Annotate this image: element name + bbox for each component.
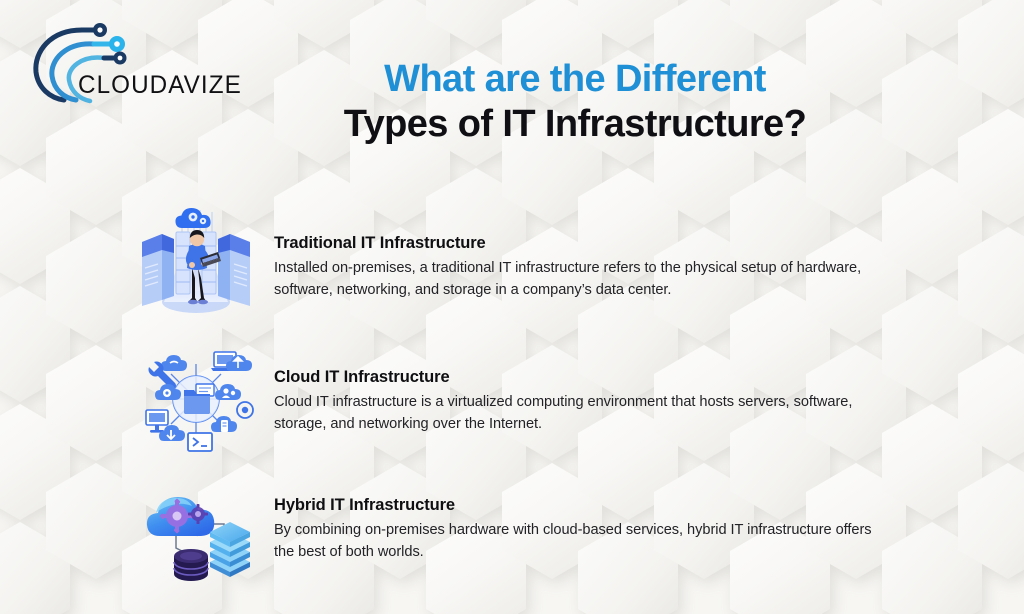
page-title: What are the Different Types of IT Infra… (245, 58, 905, 145)
list-item: Hybrid IT Infrastructure By combining on… (132, 478, 932, 582)
hybrid-cloud-database-icon (132, 478, 260, 582)
section-text: Hybrid IT Infrastructure By combining on… (260, 478, 932, 563)
list-item: Cloud IT Infrastructure Cloud IT infrast… (132, 340, 932, 458)
data-center-server-rack-icon (132, 206, 260, 316)
brand-name: CLOUDAVIZE (78, 71, 242, 100)
section-text: Cloud IT Infrastructure Cloud IT infrast… (260, 340, 932, 435)
section-text: Traditional IT Infrastructure Installed … (260, 206, 932, 301)
infographic-canvas: CLOUDAVIZE What are the Different Types … (0, 0, 1024, 614)
page-title-line-1: What are the Different (245, 58, 905, 101)
page-title-line-2: Types of IT Infrastructure? (245, 103, 905, 146)
section-title: Traditional IT Infrastructure (274, 234, 932, 253)
list-item: Traditional IT Infrastructure Installed … (132, 206, 932, 316)
section-title: Cloud IT Infrastructure (274, 368, 932, 387)
cloud-network-hub-icon (132, 340, 260, 458)
section-body: By combining on-premises hardware with c… (274, 519, 894, 563)
section-title: Hybrid IT Infrastructure (274, 496, 932, 515)
section-body: Cloud IT infrastructure is a virtualized… (274, 391, 894, 435)
section-body: Installed on-premises, a traditional IT … (274, 257, 894, 301)
brand-logo[interactable]: CLOUDAVIZE (20, 14, 245, 106)
